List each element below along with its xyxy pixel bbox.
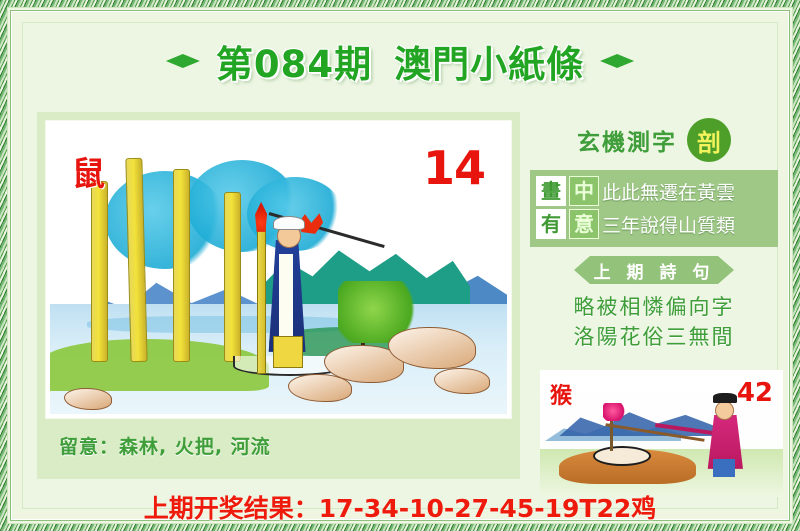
painting-figure-hat [273, 216, 305, 230]
title-name: 澳門小紙條 [394, 43, 584, 86]
small-picture-skirt [713, 459, 735, 477]
xuanji-char-badge[interactable]: 剖 [687, 118, 731, 162]
previous-poem-line-1: 略被相憐偏向字 [530, 292, 778, 322]
small-zodiac-label: 猴 [550, 378, 572, 410]
main-picture-canvas: 鼠 14 [50, 125, 507, 414]
main-picture-frame[interactable]: 鼠 14 [45, 120, 512, 419]
painting-tree-trunk-3 [173, 169, 190, 362]
small-picture[interactable]: 猴 42 [540, 370, 783, 497]
main-zodiac-label: 鼠 [72, 147, 105, 195]
previous-poem-line-2: 洛陽花俗三無間 [530, 322, 778, 352]
issue-number: 第084期 [216, 43, 372, 86]
poem-row-1: 畫 中 此此無遷在黃雲 [536, 176, 772, 206]
main-number-label: 14 [423, 141, 485, 195]
poem-line-2: 三年說得山質類 [602, 211, 735, 238]
page-title: 第084期澳門小紙條 [216, 34, 584, 88]
small-picture-flower [603, 403, 625, 421]
painting-flame-icon [251, 202, 271, 232]
painting-figure-hem [273, 336, 303, 368]
diamond-icon-right [600, 54, 634, 68]
note-line: 留意：森林, 火把, 河流 [59, 432, 271, 459]
poem-line-1: 此此無遷在黃雲 [602, 178, 735, 205]
key-char-you: 有 [536, 209, 566, 239]
poem-row-2: 有 意 三年說得山質類 [536, 209, 772, 239]
painting-torch-staff [257, 222, 266, 374]
page-header: 第084期澳門小紙條 [22, 30, 778, 92]
painting-figure [251, 206, 325, 396]
previous-poem: 略被相憐偏向字 洛陽花俗三無間 [530, 292, 778, 353]
painting-tree-trunk-1 [91, 181, 108, 362]
small-picture-hat [713, 393, 737, 403]
previous-poem-banner: 上 期 詩 句 [574, 256, 734, 284]
key-char-yi: 意 [569, 209, 599, 239]
xuanji-row: 玄機測字 剖 [530, 112, 778, 168]
poster-root: 第084期澳門小紙條 [0, 0, 800, 531]
poem-box: 畫 中 此此無遷在黃雲 有 意 三年說得山質類 [530, 170, 778, 247]
small-number-label: 42 [737, 378, 773, 408]
diamond-icon-left [166, 54, 200, 68]
painting-tree-trunk-4 [224, 192, 241, 362]
xuanji-label: 玄機測字 [577, 123, 677, 157]
key-char-hua: 畫 [536, 176, 566, 206]
right-column: 玄機測字 剖 畫 中 此此無遷在黃雲 有 意 三年說得山質類 上 期 詩 句 略… [530, 112, 778, 353]
main-picture-panel: 鼠 14 留意：森林, 火把, 河流 [37, 112, 520, 479]
small-picture-head [715, 401, 734, 420]
key-char-zhong: 中 [569, 176, 599, 206]
